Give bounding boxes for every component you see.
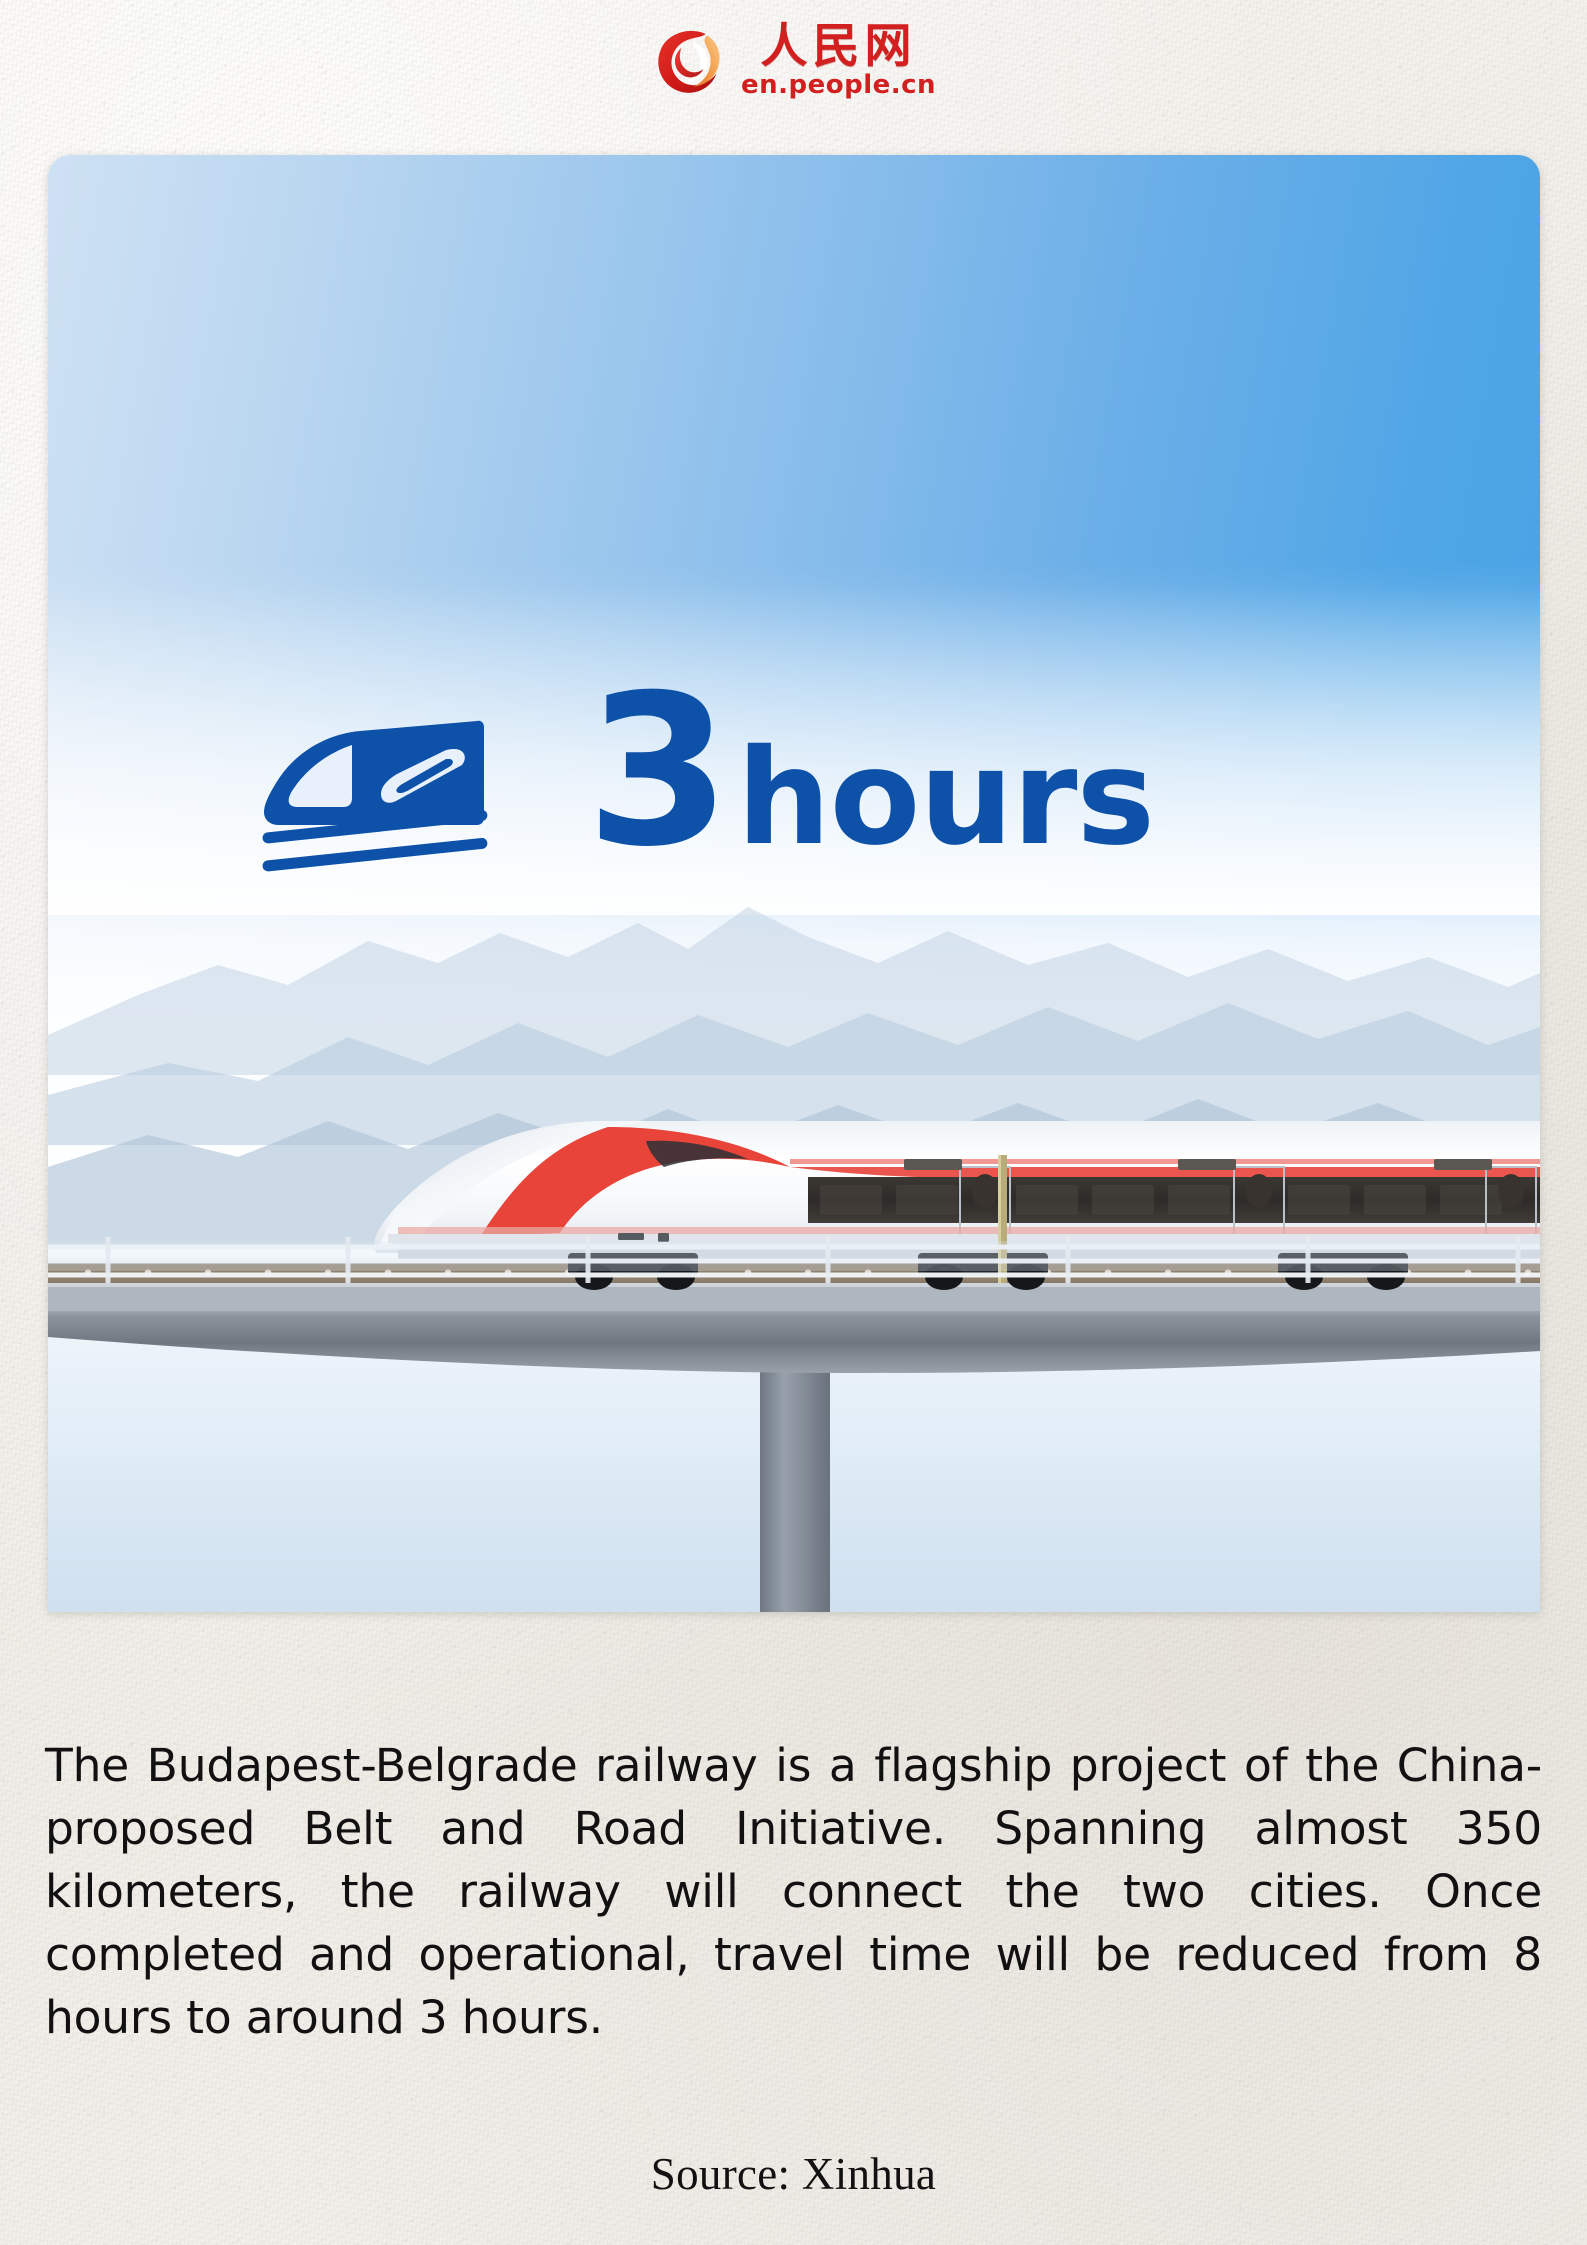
site-logo[interactable]: 人民网 en.people.cn	[651, 22, 936, 98]
people-daily-swirl-icon	[651, 22, 727, 98]
logo-chinese-name: 人民网	[761, 23, 917, 70]
logo-site-url: en.people.cn	[741, 72, 936, 98]
masthead: 人民网 en.people.cn	[0, 22, 1587, 98]
hero-image-card: 3 hours	[48, 155, 1540, 1612]
source-attribution: Source: Xinhua	[0, 2148, 1587, 2200]
train-viaduct-scene	[48, 155, 1540, 1612]
article-paragraph: The Budapest-Belgrade railway is a flags…	[45, 1734, 1542, 2049]
